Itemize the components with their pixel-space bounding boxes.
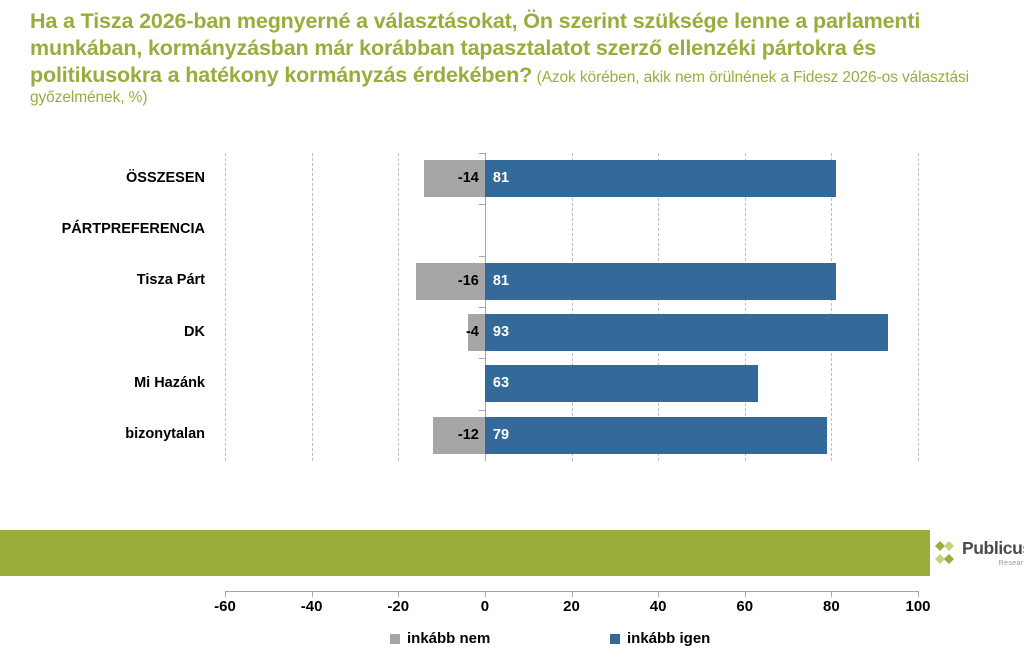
x-axis-tick-60	[745, 591, 746, 597]
x-axis-tick-80	[831, 591, 832, 597]
x-axis-label-60: 60	[715, 598, 775, 615]
bar-positive-3: 93	[485, 314, 888, 351]
category-label-3: DK	[0, 324, 205, 340]
publicus-research-logo: Publicus Research	[930, 530, 1024, 576]
category-label-4: Mi Hazánk	[0, 375, 205, 391]
bar-value-positive-3: 93	[493, 314, 509, 351]
footer-bar	[0, 530, 930, 576]
x-axis-label-40: 40	[628, 598, 688, 615]
x-axis-tick-20	[572, 591, 573, 597]
legend-label-0: inkább nem	[407, 630, 490, 647]
logo-name: Publicus	[962, 540, 1024, 558]
bar-value-positive-2: 81	[493, 263, 509, 300]
chart-title-block: Ha a Tisza 2026-ban megnyerné a választá…	[30, 8, 1000, 107]
category-tick-1	[479, 204, 485, 205]
bar-value-positive-4: 63	[493, 365, 509, 402]
legend-label-1: inkább igen	[627, 630, 710, 647]
legend-item-1[interactable]: inkább igen	[610, 630, 710, 647]
x-axis-label--60: -60	[195, 598, 255, 615]
chart-legend: inkább neminkább igen	[0, 630, 1024, 654]
x-axis-label-20: 20	[542, 598, 602, 615]
x-axis-label-80: 80	[801, 598, 861, 615]
category-label-1: PÁRTPREFERENCIA	[0, 221, 205, 237]
x-axis-tick--40	[312, 591, 313, 597]
bar-negative-2: -16	[416, 263, 485, 300]
plot-region: ÖSSZESEN-1481PÁRTPREFERENCIATisza Párt-1…	[225, 153, 918, 461]
legend-swatch-icon-1	[610, 634, 620, 644]
category-label-2: Tisza Párt	[0, 272, 205, 288]
chart-row: DK-493	[225, 307, 918, 358]
category-label-0: ÖSSZESEN	[0, 170, 205, 186]
chart-area: ÖSSZESEN-1481PÁRTPREFERENCIATisza Párt-1…	[0, 130, 1024, 520]
x-axis-tick-40	[658, 591, 659, 597]
bar-positive-0: 81	[485, 160, 836, 197]
gridline-100	[918, 153, 919, 461]
bar-negative-0: -14	[424, 160, 485, 197]
bar-positive-2: 81	[485, 263, 836, 300]
x-axis-label--40: -40	[282, 598, 342, 615]
category-label-5: bizonytalan	[0, 426, 205, 442]
bar-value-negative-3: -4	[466, 314, 479, 351]
bar-value-negative-2: -16	[458, 263, 479, 300]
logo-wordmark: Publicus Research	[962, 540, 1024, 566]
x-axis-tick--20	[398, 591, 399, 597]
bar-value-positive-5: 79	[493, 417, 509, 454]
chart-row: Tisza Párt-1681	[225, 256, 918, 307]
bar-positive-5: 79	[485, 417, 827, 454]
bar-value-negative-5: -12	[458, 417, 479, 454]
x-axis-tick-0	[485, 591, 486, 597]
category-tick-2	[479, 256, 485, 257]
chart-row: Mi Hazánk63	[225, 358, 918, 409]
legend-swatch-icon-0	[390, 634, 400, 644]
x-axis-tick-100	[918, 591, 919, 597]
logo-subtitle: Research	[962, 559, 1024, 566]
chart-row: ÖSSZESEN-1481	[225, 153, 918, 204]
bar-positive-4: 63	[485, 365, 758, 402]
x-axis-label-0: 0	[455, 598, 515, 615]
category-tick-3	[479, 307, 485, 308]
chart-row: bizonytalan-1279	[225, 410, 918, 461]
publicus-diamond-icon	[934, 540, 958, 566]
x-axis-tick--60	[225, 591, 226, 597]
bar-value-negative-0: -14	[458, 160, 479, 197]
bar-negative-3: -4	[468, 314, 485, 351]
chart-row: PÁRTPREFERENCIA	[225, 204, 918, 255]
category-tick-0	[479, 153, 485, 154]
category-tick-4	[479, 358, 485, 359]
x-axis-label-100: 100	[888, 598, 948, 615]
bar-negative-5: -12	[433, 417, 485, 454]
bar-value-positive-0: 81	[493, 160, 509, 197]
legend-item-0[interactable]: inkább nem	[390, 630, 490, 647]
category-tick-5	[479, 410, 485, 411]
x-axis-label--20: -20	[368, 598, 428, 615]
